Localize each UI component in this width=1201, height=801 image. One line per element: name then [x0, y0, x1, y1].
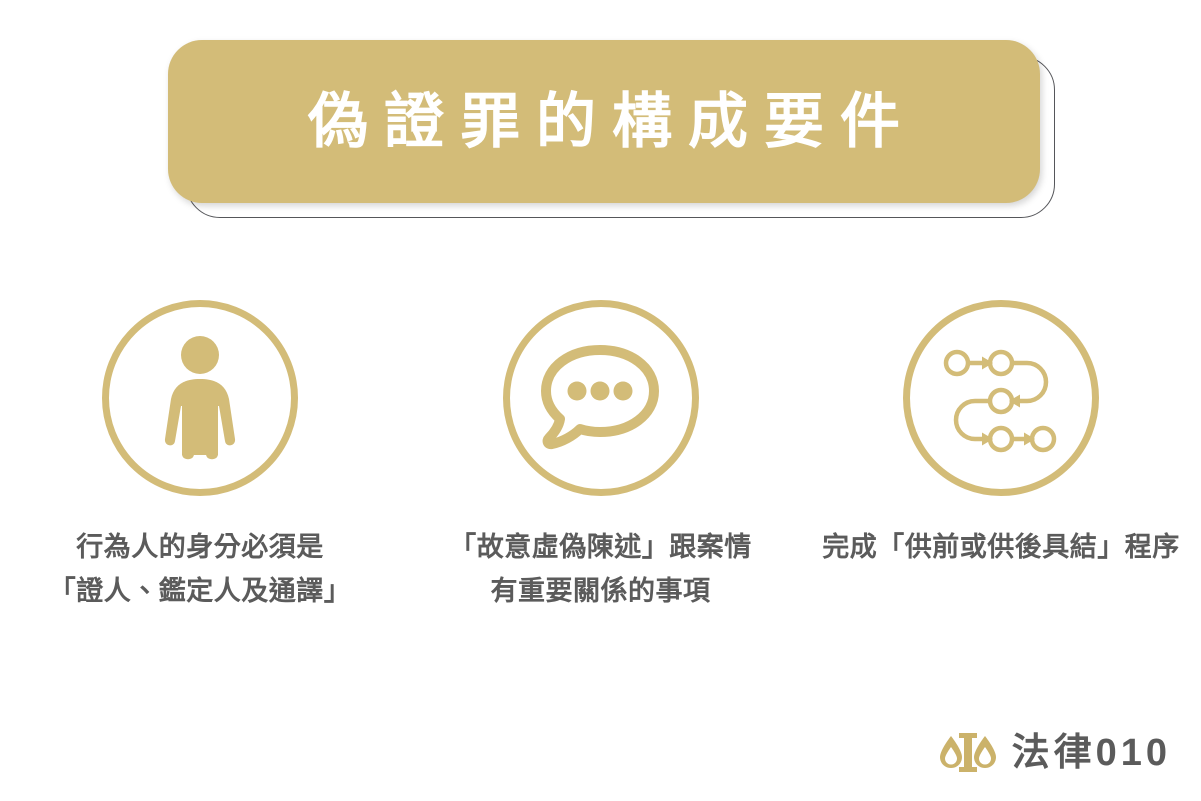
requirement-caption-2: 「故意虛偽陳述」跟案情 有重要關係的事項 — [449, 526, 752, 613]
icon-circle-2 — [503, 300, 699, 496]
requirement-item-3: 完成「供前或供後具結」程序 — [801, 300, 1201, 570]
infographic-canvas: 偽證罪的構成要件 行為人的身分必須是 「證人、鑑定人及通譯」 — [0, 0, 1201, 801]
icon-circle-1 — [102, 300, 298, 496]
icon-circle-3 — [903, 300, 1099, 496]
requirements-list: 行為人的身分必須是 「證人、鑑定人及通譯」 「故意虛偽陳述」跟案情 有重要關係的… — [0, 300, 1201, 613]
requirement-caption-1: 行為人的身分必須是 「證人、鑑定人及通譯」 — [49, 526, 352, 613]
process-flow-icon — [941, 343, 1061, 453]
speech-bubble-icon — [538, 342, 663, 454]
requirement-item-2: 「故意虛偽陳述」跟案情 有重要關係的事項 — [401, 300, 801, 613]
person-icon — [140, 333, 260, 463]
requirement-item-1: 行為人的身分必須是 「證人、鑑定人及通譯」 — [0, 300, 400, 613]
brand-logo: 法律010 — [938, 730, 1171, 776]
title-banner: 偽證罪的構成要件 — [168, 40, 1058, 220]
brand-name: 法律010 — [1012, 734, 1171, 772]
banner-fill: 偽證罪的構成要件 — [168, 40, 1040, 203]
balance-scale-icon — [938, 730, 998, 776]
requirement-caption-3: 完成「供前或供後具結」程序 — [822, 526, 1180, 570]
page-title: 偽證罪的構成要件 — [168, 40, 1040, 203]
